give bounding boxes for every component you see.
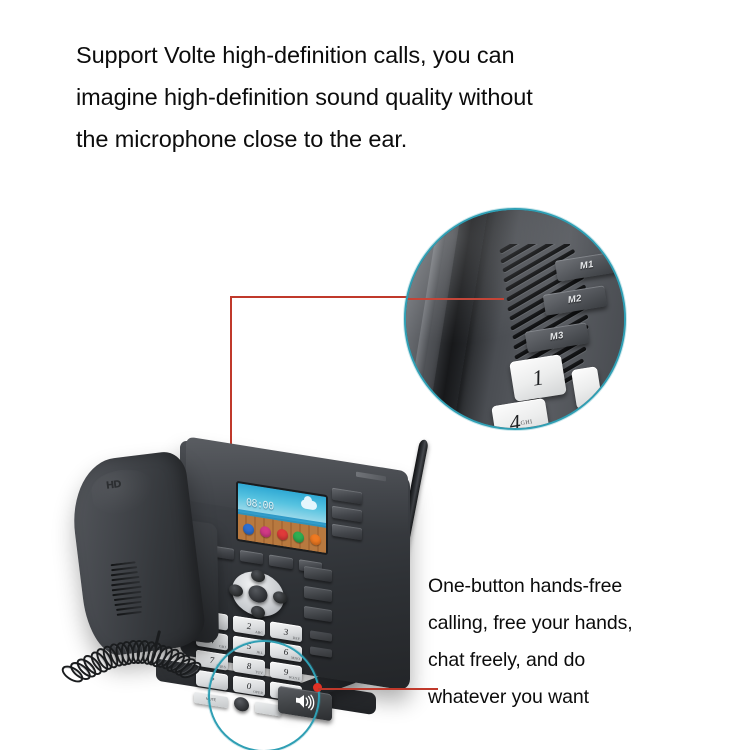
sidecopy-line-1: One-button hands-free xyxy=(428,568,746,605)
transfer-key[interactable] xyxy=(304,586,332,602)
sidecopy-line-3: chat freely, and do xyxy=(428,642,746,679)
navigation-dpad[interactable] xyxy=(232,568,284,620)
soft-key-3[interactable] xyxy=(269,554,293,569)
magnified-key-1[interactable]: 1 xyxy=(509,354,567,402)
hd-logo-icon: HD xyxy=(105,479,121,492)
soft-key-2[interactable] xyxy=(240,550,264,565)
magnified-earpiece-callout: M1 M2 M3 1 4GHI xyxy=(404,208,626,430)
message-key[interactable] xyxy=(304,606,332,622)
handset-speaker-grille-icon xyxy=(109,560,154,622)
speaker-icon xyxy=(294,691,316,715)
keypad-key-letters: GHI xyxy=(219,644,226,650)
keypad-key-digit: * xyxy=(210,675,215,686)
keypad-key-digit: 8 xyxy=(247,661,252,672)
speaker-leader-line xyxy=(318,688,438,690)
function-keys-group[interactable] xyxy=(304,566,332,628)
magnifier-pointer-line xyxy=(406,298,504,300)
keypad-key-5[interactable]: 5JKL xyxy=(233,635,265,656)
keypad-key-digit: 0 xyxy=(247,681,252,692)
headline-text: Support Volte high-definition calls, you… xyxy=(76,34,696,160)
keypad-key-9[interactable]: 9WXYZ xyxy=(270,661,302,682)
keypad-key-digit: 9 xyxy=(284,667,289,678)
conference-key[interactable] xyxy=(310,646,332,657)
headline-line-2: imagine high-definition sound quality wi… xyxy=(76,76,696,118)
magnifier-content: M1 M2 M3 1 4GHI xyxy=(406,210,624,428)
slide-canvas: Support Volte high-definition calls, you… xyxy=(0,0,750,750)
handset-grille-line xyxy=(117,611,142,616)
function-keys-lower-group[interactable] xyxy=(310,630,332,663)
lcd-app-icon-5[interactable] xyxy=(310,533,321,546)
line-key-2[interactable] xyxy=(332,506,362,523)
mute-key[interactable]: MUTE xyxy=(194,691,228,707)
line-keys-group[interactable] xyxy=(332,488,362,555)
handset-cord xyxy=(62,628,202,684)
keypad-key-letters: JKL xyxy=(256,650,263,656)
keypad-key-letters: ABC xyxy=(255,630,263,636)
desk-phone-illustration: 08:00 M1M2M3 xyxy=(60,432,460,732)
keypad-key-letters: DEF xyxy=(293,636,300,642)
keypad-key-digit: 2 xyxy=(247,621,252,632)
keypad-key-letters: WXYZ xyxy=(289,675,300,682)
keypad-key-6[interactable]: 6MNO xyxy=(270,641,302,662)
keypad-key-letters: MNO xyxy=(291,656,300,662)
keypad-key-digit: 5 xyxy=(247,641,252,652)
lcd-app-icon-1[interactable] xyxy=(243,522,254,535)
sidecopy-line-4: whatever you want xyxy=(428,679,746,716)
lcd-app-icon-2[interactable] xyxy=(260,525,271,538)
magnified-key-4-letters: GHI xyxy=(520,419,533,427)
line-key-3[interactable] xyxy=(332,524,362,541)
keypad-key-letters: TUV xyxy=(255,670,263,676)
headline-line-3: the microphone close to the ear. xyxy=(76,118,696,160)
keypad-key-digit: 3 xyxy=(284,627,289,638)
lcd-app-icon-4[interactable] xyxy=(293,530,304,543)
sidecopy-line-2: calling, free your hands, xyxy=(428,605,746,642)
lcd-app-icon-3[interactable] xyxy=(277,528,288,541)
callout-leader-horizontal xyxy=(231,296,427,298)
sidecopy-text: One-button hands-free calling, free your… xyxy=(428,568,746,716)
headline-line-1: Support Volte high-definition calls, you… xyxy=(76,34,696,76)
keypad-key-digit: 6 xyxy=(284,647,289,658)
headset-key[interactable] xyxy=(234,696,249,712)
keypad-key-8[interactable]: 8TUV xyxy=(233,655,265,676)
